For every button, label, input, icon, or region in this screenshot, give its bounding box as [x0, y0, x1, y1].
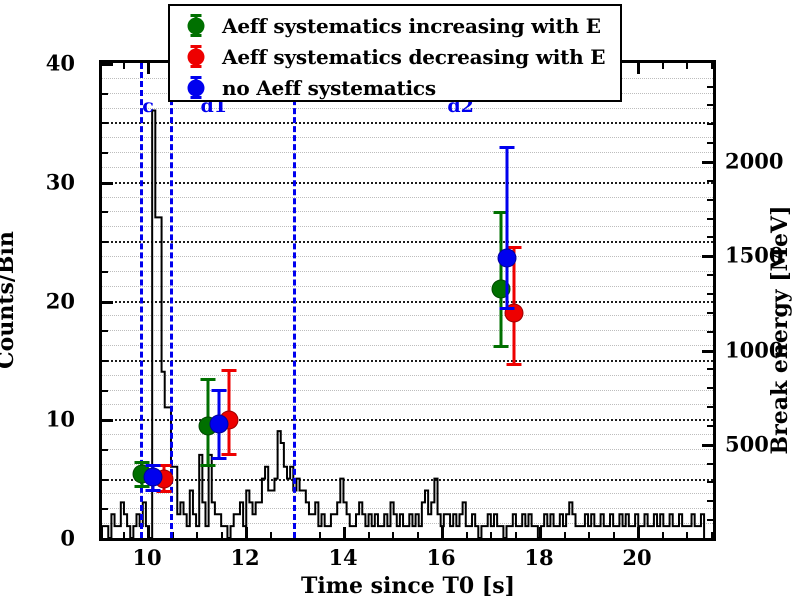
- error-bar: [506, 146, 509, 307]
- x-tick-label: 14: [328, 545, 357, 570]
- data-point-marker[interactable]: [143, 467, 162, 486]
- error-bar-cap: [500, 146, 515, 149]
- legend-marker-icon: [170, 10, 222, 41]
- legend: Aeff systematics increasing with E Aeff …: [168, 4, 622, 102]
- legend-item: Aeff systematics increasing with E: [170, 10, 620, 41]
- plot-area: cd1d2: [99, 60, 716, 541]
- error-bar-cap: [493, 345, 508, 348]
- data-point-marker[interactable]: [209, 414, 228, 433]
- interval-boundary-line: [293, 63, 296, 538]
- legend-item: Aeff systematics decreasing with E: [170, 41, 620, 72]
- error-bar-cap: [201, 464, 216, 467]
- error-bar-cap: [135, 485, 150, 488]
- x-tick-label: 20: [622, 545, 651, 570]
- error-bar-cap: [145, 464, 160, 467]
- x-axis-label: Time since T0 [s]: [301, 573, 515, 599]
- legend-label: no Aeff systematics: [222, 76, 436, 100]
- y-axis-label-left: Counts/Bin: [0, 231, 19, 369]
- x-tick-label: 12: [230, 545, 259, 570]
- interval-label: c: [142, 95, 154, 117]
- legend-label: Aeff systematics increasing with E: [222, 14, 601, 38]
- legend-label: Aeff systematics decreasing with E: [222, 45, 605, 69]
- data-point-marker[interactable]: [498, 249, 517, 268]
- error-bar-cap: [145, 489, 160, 492]
- histogram-lightcurve: [102, 63, 713, 538]
- error-bar-cap: [221, 369, 236, 372]
- y-tick-label-right: 2000: [716, 149, 783, 174]
- x-tick-label: 18: [524, 545, 553, 570]
- histogram-step-line: [102, 111, 704, 539]
- y-tick-label-left: 30: [46, 169, 84, 194]
- error-bar-cap: [201, 378, 216, 381]
- legend-marker-icon: [170, 41, 222, 72]
- legend-marker-icon: [170, 72, 222, 103]
- y-tick-label-right: 1000: [716, 337, 783, 362]
- y-tick-label-right: 500: [716, 431, 769, 456]
- y-tick-label-left: 20: [46, 288, 84, 313]
- x-tick-label: 16: [426, 545, 455, 570]
- legend-item: no Aeff systematics: [170, 72, 620, 103]
- error-bar-cap: [211, 389, 226, 392]
- error-bar-cap: [506, 363, 521, 366]
- y-tick-label-left: 0: [60, 526, 84, 551]
- error-bar-cap: [500, 307, 515, 310]
- error-bar-cap: [211, 457, 226, 460]
- y-tick-label-left: 10: [46, 407, 84, 432]
- x-tick-label: 10: [132, 545, 161, 570]
- error-bar: [499, 211, 502, 345]
- chart-root: Counts/Bin Break energy [MeV] Time since…: [0, 0, 800, 600]
- error-bar-cap: [221, 453, 236, 456]
- y-tick-label-right: 1500: [716, 243, 783, 268]
- y-tick-label-left: 40: [46, 51, 84, 76]
